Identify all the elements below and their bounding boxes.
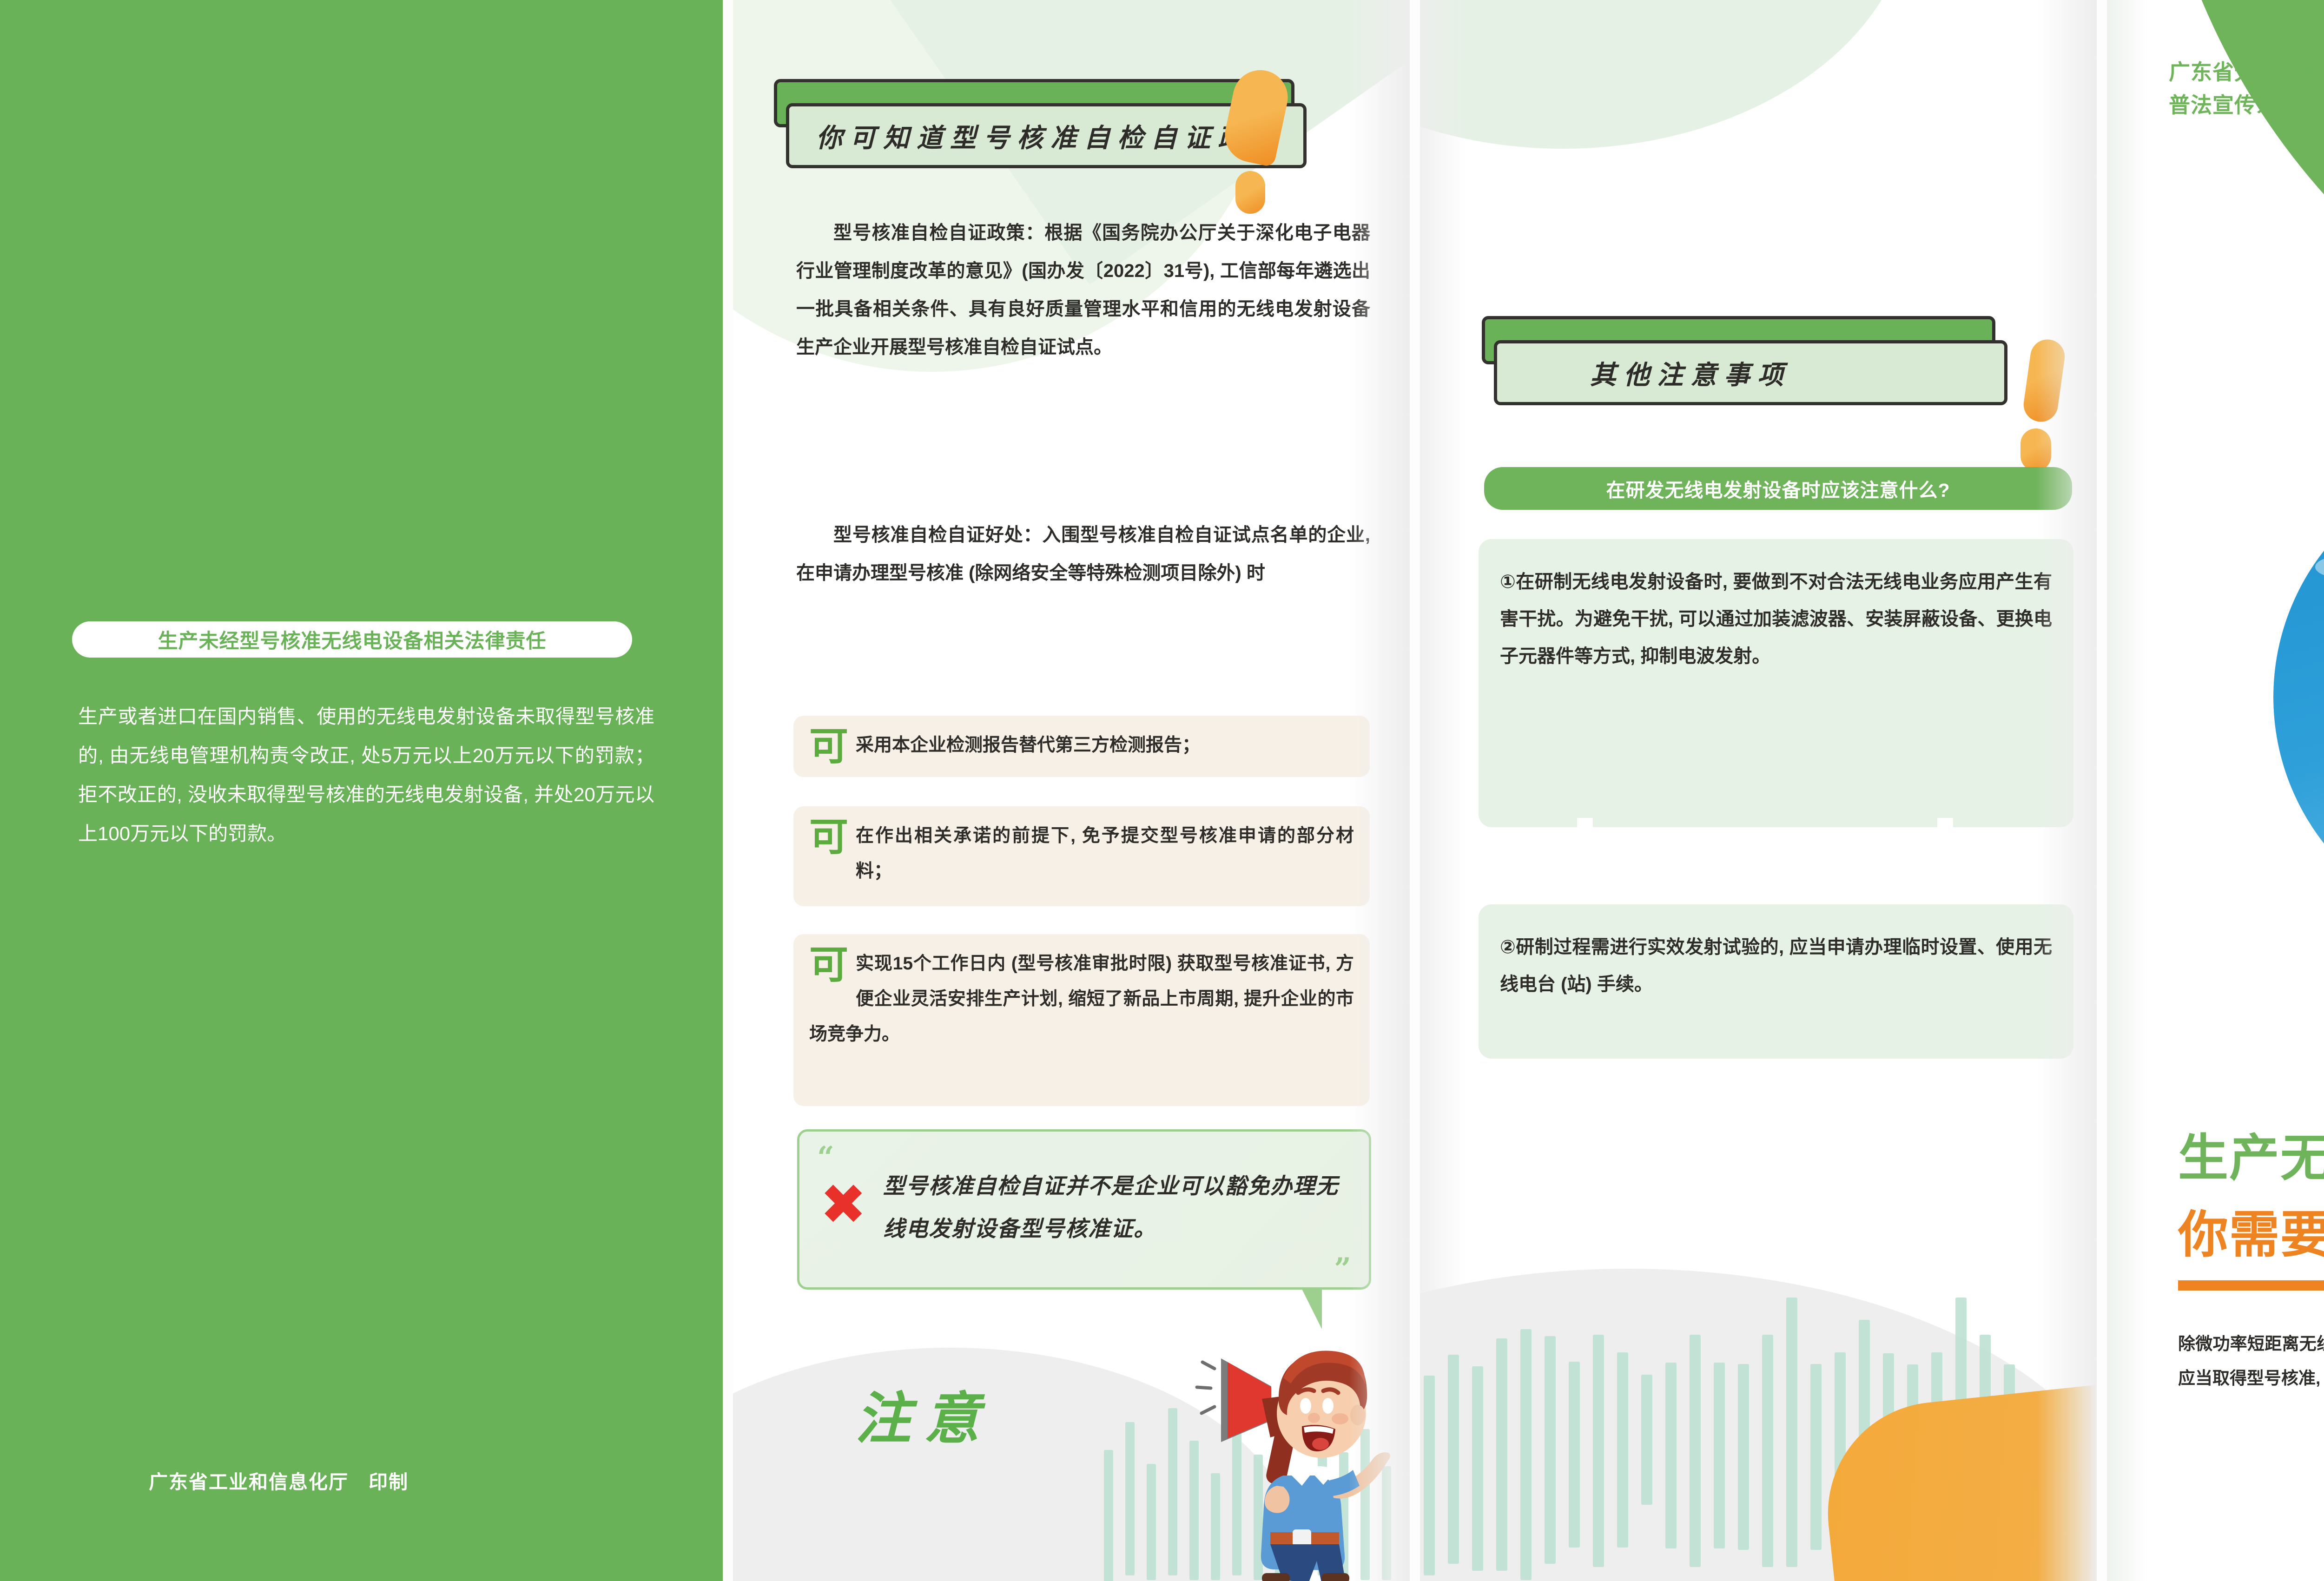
card-notch	[1577, 818, 1593, 844]
panel-gutter	[1410, 0, 1420, 1581]
policy-header-title: 你可知道型号核准自检自证政策	[789, 117, 1285, 155]
cover-title-line-1: 生产无线电发射设备	[2178, 1118, 2324, 1190]
background-blob	[1410, 0, 1912, 149]
panel-other-notes: 其他注意事项 在研发无线电发射设备时应该注意什么? ①在研制无线电发射设备时, …	[1410, 0, 2097, 1581]
benefit-item: 可 实现15个工作日内 (型号核准审批时限) 获取型号核准证书, 方便企业灵活安…	[793, 934, 1370, 1106]
cover-subtitle: 除微功率短距离无线电发射设备外, 生产在国内销售、使用的无线电发射设备应当取得型…	[2178, 1327, 2324, 1396]
panel-gutter	[2097, 0, 2107, 1581]
notes-question-text: 在研发无线电发射设备时应该注意什么?	[1606, 474, 1950, 502]
note-text: ②研制过程需进行实效发射试验的, 应当申请办理临时设置、使用无线电台 (站) 手…	[1500, 929, 2052, 1003]
notes-header-title: 其他注意事项	[1497, 354, 1791, 392]
red-x-icon: ✖	[820, 1182, 872, 1234]
cover-series-line-2: 普法宣传系列第三期	[2169, 89, 2324, 122]
benefit-text: 在作出相关承诺的前提下, 免予提交型号核准申请的部分材料；	[809, 818, 1354, 889]
panel-gutter	[723, 0, 733, 1581]
notes-question-pill: 在研发无线电发射设备时应该注意什么?	[1484, 467, 2072, 510]
benefit-text: 采用本企业检测报告替代第三方检测报告；	[809, 728, 1354, 763]
notes-header-box: 其他注意事项	[1482, 316, 1995, 432]
benefit-item: 可 采用本企业检测报告替代第三方检测报告；	[793, 716, 1370, 777]
policy-paragraph-2: 型号核准自检自证好处：入围型号核准自检自证试点名单的企业, 在申请办理型号核准 …	[796, 516, 1370, 592]
legal-liability-heading: 生产未经型号核准无线电设备相关法律责任	[158, 625, 547, 654]
note-text: ①在研制无线电发射设备时, 要做到不对合法无线电业务应用产生有害干扰。为避免干扰…	[1500, 563, 2052, 675]
panel-edge-shadow	[1349, 0, 1410, 1581]
quote-open-icon: “	[817, 1140, 834, 1175]
question-mark-icon	[1222, 70, 1306, 223]
cover-rule-orange-segment	[2178, 1280, 2324, 1291]
quote-close-icon: ”	[1334, 1252, 1351, 1286]
ke-glyph-icon: 可	[809, 946, 849, 991]
ke-glyph-icon: 可	[809, 728, 849, 772]
note-card: ②研制过程需进行实效发射试验的, 应当申请办理临时设置、使用无线电台 (站) 手…	[1479, 904, 2073, 1059]
publisher-footer: 广东省工业和信息化厅 印制	[149, 1466, 409, 1494]
cover-series-title: 广东省无线电管理 普法宣传系列第三期	[2169, 56, 2324, 122]
brochure-page: 生产未经型号核准无线电设备相关法律责任 生产或者进口在国内销售、使用的无线电发射…	[0, 0, 2324, 1581]
notes-header-front-plate: 其他注意事项	[1494, 340, 2007, 405]
attention-label: 注意	[855, 1373, 993, 1454]
policy-paragraph-1: 型号核准自检自证政策：根据《国务院办公厅关于深化电子电器行业管理制度改革的意见》…	[796, 214, 1370, 366]
radio-tower-photo	[2273, 460, 2324, 934]
cover-title-line-2: 你需要知道这些规定	[2178, 1194, 2324, 1267]
cover-rule	[2178, 1280, 2324, 1291]
benefit-text: 实现15个工作日内 (型号核准审批时限) 获取型号核准证书, 方便企业灵活安排生…	[809, 946, 1354, 1052]
benefit-item: 可 在作出相关承诺的前提下, 免予提交型号核准申请的部分材料；	[793, 806, 1370, 906]
cover-series-line-1: 广东省无线电管理	[2169, 56, 2324, 89]
ke-glyph-icon: 可	[809, 818, 849, 863]
card-notch	[1937, 818, 1953, 844]
panel-legal-liability: 生产未经型号核准无线电设备相关法律责任 生产或者进口在国内销售、使用的无线电发射…	[0, 0, 723, 1581]
policy-header-box: 你可知道型号核准自检自证政策	[774, 79, 1294, 195]
warning-quote-text: 型号核准自检自证并不是企业可以豁免办理无线电发射设备型号核准证。	[883, 1165, 1350, 1250]
warning-quote-bubble: “ ” ✖ 型号核准自检自证并不是企业可以豁免办理无线电发射设备型号核准证。	[797, 1129, 1371, 1290]
legal-liability-heading-pill: 生产未经型号核准无线电设备相关法律责任	[72, 621, 632, 658]
panel-policy: 你可知道型号核准自检自证政策 型号核准自检自证政策：根据《国务院办公厅关于深化电…	[723, 0, 1410, 1581]
legal-liability-body: 生产或者进口在国内销售、使用的无线电发射设备未取得型号核准的, 由无线电管理机构…	[78, 697, 654, 853]
panel-edge-shadow	[2036, 0, 2097, 1581]
panel-cover: 广东省无线电管理 普法宣传系列第三期	[2097, 0, 2324, 1581]
note-card: ①在研制无线电发射设备时, 要做到不对合法无线电业务应用产生有害干扰。为避免干扰…	[1479, 539, 2073, 827]
